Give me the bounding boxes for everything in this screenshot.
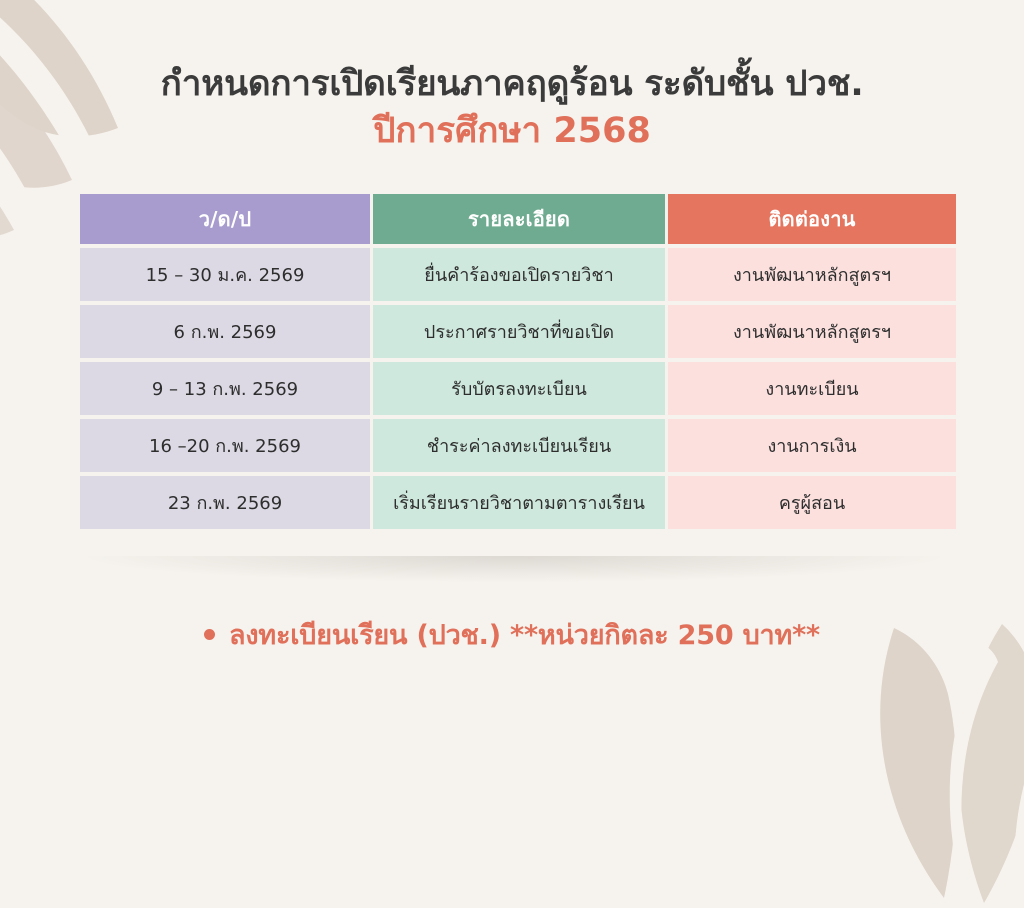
column-header-contact: ติดต่องาน (668, 194, 956, 244)
cell-detail: ประกาศรายวิชาที่ขอเปิด (373, 305, 665, 358)
bullet-dot-icon (204, 629, 215, 640)
cell-date: 23 ก.พ. 2569 (80, 476, 370, 529)
cell-contact: ครูผู้สอน (668, 476, 956, 529)
column-header-date: ว/ด/ป (80, 194, 370, 244)
cell-date: 15 – 30 ม.ค. 2569 (80, 248, 370, 301)
cell-contact: งานการเงิน (668, 419, 956, 472)
footnote-text: ลงทะเบียนเรียน (ปวช.) **หน่วยกิตละ 250 บ… (229, 613, 820, 656)
table-row: 23 ก.พ. 2569 เริ่มเรียนรายวิชาตามตารางเร… (80, 476, 956, 529)
schedule-table: ว/ด/ป รายละเอียด ติดต่องาน 15 – 30 ม.ค. … (77, 190, 959, 533)
table-row: 16 –20 ก.พ. 2569 ชำระค่าลงทะเบียนเรียน ง… (80, 419, 956, 472)
cell-date: 16 –20 ก.พ. 2569 (80, 419, 370, 472)
column-header-detail: รายละเอียด (373, 194, 665, 244)
cell-date: 6 ก.พ. 2569 (80, 305, 370, 358)
footnote: ลงทะเบียนเรียน (ปวช.) **หน่วยกิตละ 250 บ… (0, 613, 1024, 656)
title-line-primary: กำหนดการเปิดเรียนภาคฤดูร้อน ระดับชั้น ปว… (0, 62, 1024, 107)
cell-date: 9 – 13 ก.พ. 2569 (80, 362, 370, 415)
table-shadow (84, 556, 942, 582)
table-row: 15 – 30 ม.ค. 2569 ยื่นคำร้องขอเปิดรายวิช… (80, 248, 956, 301)
title-line-secondary: ปีการศึกษา 2568 (0, 109, 1024, 154)
cell-detail: ยื่นคำร้องขอเปิดรายวิชา (373, 248, 665, 301)
table-header-row: ว/ด/ป รายละเอียด ติดต่องาน (80, 194, 956, 244)
cell-contact: งานพัฒนาหลักสูตรฯ (668, 305, 956, 358)
table-row: 6 ก.พ. 2569 ประกาศรายวิชาที่ขอเปิด งานพั… (80, 305, 956, 358)
cell-contact: งานพัฒนาหลักสูตรฯ (668, 248, 956, 301)
cell-detail: เริ่มเรียนรายวิชาตามตารางเรียน (373, 476, 665, 529)
table-row: 9 – 13 ก.พ. 2569 รับบัตรลงทะเบียน งานทะเ… (80, 362, 956, 415)
cell-contact: งานทะเบียน (668, 362, 956, 415)
slide-root: กำหนดการเปิดเรียนภาคฤดูร้อน ระดับชั้น ปว… (0, 0, 1024, 768)
cell-detail: รับบัตรลงทะเบียน (373, 362, 665, 415)
page-title: กำหนดการเปิดเรียนภาคฤดูร้อน ระดับชั้น ปว… (0, 62, 1024, 154)
cell-detail: ชำระค่าลงทะเบียนเรียน (373, 419, 665, 472)
